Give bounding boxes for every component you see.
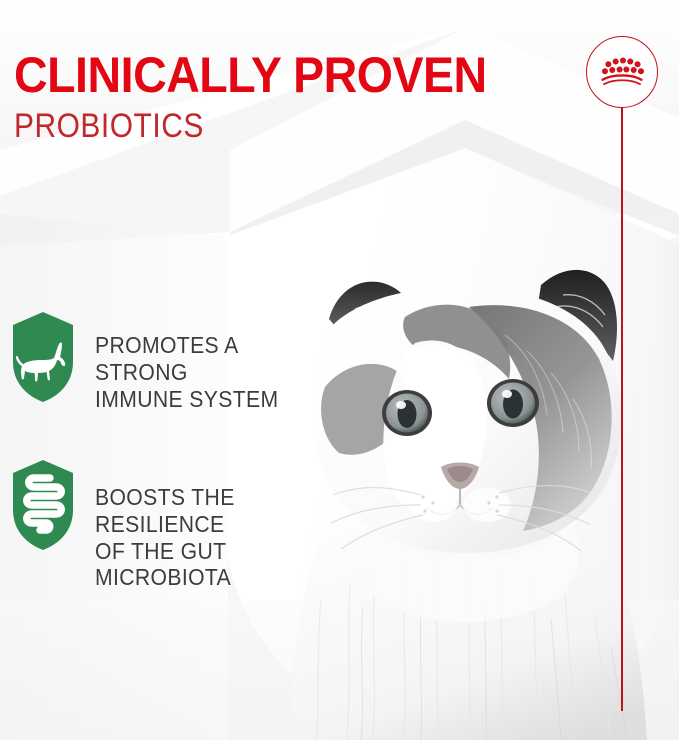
shield-cat-icon [10,310,76,404]
benefit-item-immune: PROMOTES A STRONG IMMUNE SYSTEM [10,310,350,413]
benefits-list: PROMOTES A STRONG IMMUNE SYSTEM BOOSTS T… [10,310,350,591]
royal-canin-crown-icon [587,37,657,107]
shield-gut-icon [10,458,76,552]
headline-block: CLINICALLY PROVEN PROBIOTICS [14,50,534,143]
promo-banner: CLINICALLY PROVEN PROBIOTICS [0,0,679,740]
benefit-label: PROMOTES A STRONG IMMUNE SYSTEM [95,310,330,413]
logo-connector-line [621,107,623,711]
royal-canin-logo [586,36,658,108]
benefit-label: BOOSTS THE RESILIENCE OF THE GUT MICROBI… [95,458,330,592]
shield-cat-glyph [10,310,76,404]
shield-gut-glyph [10,458,76,552]
benefit-item-gut: BOOSTS THE RESILIENCE OF THE GUT MICROBI… [10,458,350,592]
page-title: CLINICALLY PROVEN [14,50,498,100]
page-subtitle: PROBIOTICS [14,109,472,143]
